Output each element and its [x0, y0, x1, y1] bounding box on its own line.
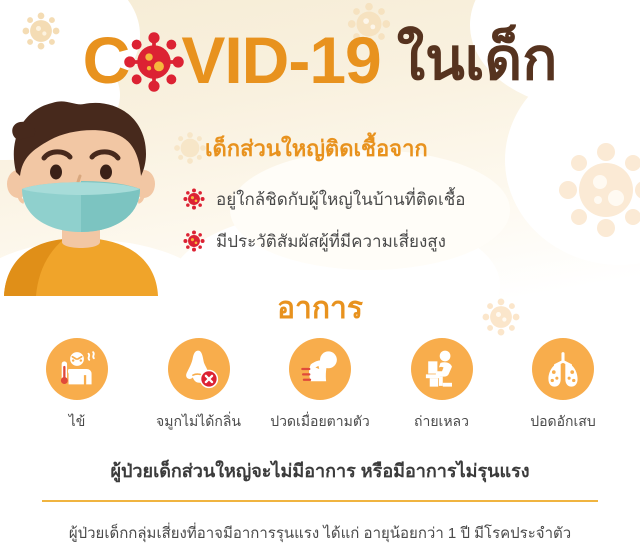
symptom-item-fever: ไข้ [18, 338, 136, 433]
transmission-bullet-list: อยู่ใกล้ชิดกับผู้ใหญ่ในบ้านที่ติดเชื้อ ม… [183, 186, 623, 270]
list-item-label: มีประวัติสัมผัสผู้ที่มีความเสี่ยงสูง [216, 228, 446, 255]
title-text-thai: ในเด็ก [397, 31, 558, 89]
list-item: อยู่ใกล้ชิดกับผู้ใหญ่ในบ้านที่ติดเชื้อ [183, 186, 623, 212]
virus-icon [123, 31, 185, 93]
body-ache-icon [289, 338, 351, 400]
toilet-diarrhea-icon [411, 338, 473, 400]
divider [42, 500, 598, 502]
symptom-item-diarrhea: ถ่ายเหลว [383, 338, 501, 433]
symptom-label: ปอดอักเสบ [530, 411, 596, 433]
virus-icon [183, 230, 205, 252]
page-title: C VID-19 ในเด็ก [0, 20, 640, 100]
list-item: มีประวัติสัมผัสผู้ที่มีความเสี่ยงสูง [183, 228, 623, 254]
footer-strong-text: ผู้ป่วยเด็กส่วนใหญ่จะไม่มีอาการ หรือมีอา… [0, 456, 640, 485]
transmission-heading: เด็กส่วนใหญ่ติดเชื้อจาก [205, 131, 428, 166]
symptom-label: ถ่ายเหลว [414, 411, 469, 433]
symptom-item-pneumonia: ปอดอักเสบ [504, 338, 622, 433]
symptom-label: ไข้ [69, 411, 86, 433]
virus-icon [183, 188, 205, 210]
virus-decoration-mid-left [172, 130, 208, 166]
fever-thermometer-icon [46, 338, 108, 400]
symptom-label: ปวดเมื่อยตามตัว [270, 411, 370, 433]
title-text-vid: VID-19 [181, 27, 380, 93]
symptoms-heading: อาการ [0, 285, 640, 332]
child-wearing-mask-illustration [0, 96, 169, 296]
infographic-poster: C VID-19 ในเด็ก [0, 0, 640, 549]
symptoms-list: ไข้ จมูกไม่ได้กลิ่น [18, 338, 622, 433]
symptom-label: จมูกไม่ได้กลิ่น [156, 411, 241, 433]
symptom-item-body-ache: ปวดเมื่อยตามตัว [261, 338, 379, 433]
symptom-item-no-smell: จมูกไม่ได้กลิ่น [140, 338, 258, 433]
footer-note-text: ผู้ป่วยเด็กกลุ่มเสี่ยงที่อาจมีอาการรุนแร… [0, 521, 640, 545]
title-letter-c: C [83, 27, 130, 93]
nose-no-smell-icon [168, 338, 230, 400]
list-item-label: อยู่ใกล้ชิดกับผู้ใหญ่ในบ้านที่ติดเชื้อ [216, 186, 466, 213]
lungs-pneumonia-icon [532, 338, 594, 400]
